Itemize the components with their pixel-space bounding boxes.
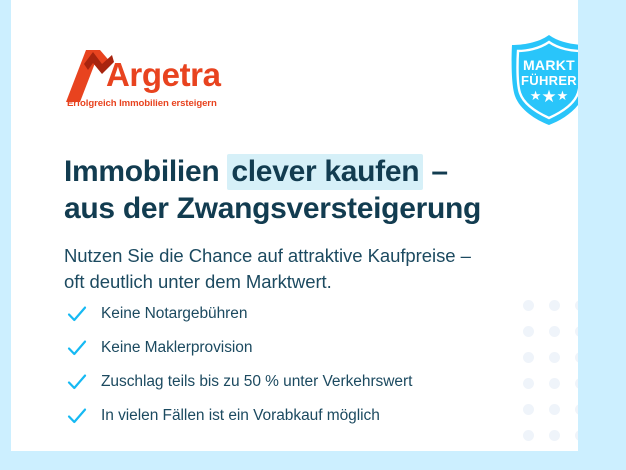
benefits-list: Keine NotargebührenKeine Maklerprovision… [67, 300, 507, 436]
grid-dot [575, 430, 578, 441]
grid-dot [523, 326, 534, 337]
check-icon [67, 338, 87, 358]
promo-banner: Argetra Erfolgreich Immobilien ersteiger… [0, 0, 626, 470]
grid-dot [523, 404, 534, 415]
grid-dot [549, 326, 560, 337]
grid-dot [549, 300, 560, 311]
benefit-label: Keine Maklerprovision [101, 339, 252, 357]
headline-suffix: – [423, 155, 447, 188]
grid-dot [575, 300, 578, 311]
grid-dot [575, 404, 578, 415]
content-panel: Argetra Erfolgreich Immobilien ersteiger… [11, 0, 578, 451]
subheadline-line-1: Nutzen Sie die Chance auf attraktive Kau… [64, 243, 534, 270]
headline: Immobilien clever kaufen – aus der Zwang… [64, 153, 544, 227]
grid-dot [523, 352, 534, 363]
benefit-label: In vielen Fällen ist ein Vorabkauf mögli… [101, 407, 380, 425]
shield-icon [500, 30, 578, 128]
dot-grid-decoration [523, 300, 578, 451]
benefit-item: Zuschlag teils bis zu 50 % unter Verkehr… [67, 368, 507, 396]
grid-dot [549, 430, 560, 441]
headline-prefix: Immobilien [64, 155, 227, 188]
benefit-label: Zuschlag teils bis zu 50 % unter Verkehr… [101, 373, 412, 391]
headline-highlight: clever kaufen [227, 154, 423, 190]
grid-dot [549, 352, 560, 363]
headline-line-2: aus der Zwangsversteigerung [64, 190, 544, 227]
grid-dot [575, 378, 578, 389]
grid-dot [523, 430, 534, 441]
subheadline-line-2: oft deutlich unter dem Marktwert. [64, 269, 534, 296]
grid-dot [549, 404, 560, 415]
grid-dot [549, 378, 560, 389]
check-icon [67, 304, 87, 324]
benefit-item: In vielen Fällen ist ein Vorabkauf mögli… [67, 402, 507, 430]
benefit-item: Keine Maklerprovision [67, 334, 507, 362]
check-icon [67, 372, 87, 392]
grid-dot [523, 378, 534, 389]
subheadline: Nutzen Sie die Chance auf attraktive Kau… [64, 243, 534, 297]
argetra-logo: Argetra Erfolgreich Immobilien ersteiger… [66, 44, 266, 114]
benefit-item: Keine Notargebühren [67, 300, 507, 328]
logo-tagline: Erfolgreich Immobilien ersteigern [67, 98, 217, 109]
grid-dot [575, 352, 578, 363]
grid-dot [575, 326, 578, 337]
benefit-label: Keine Notargebühren [101, 305, 247, 323]
check-icon [67, 406, 87, 426]
market-leader-badge: MARKT FÜHRER ★★★ [500, 30, 578, 128]
logo-wordmark: Argetra [106, 58, 221, 91]
grid-dot [523, 300, 534, 311]
